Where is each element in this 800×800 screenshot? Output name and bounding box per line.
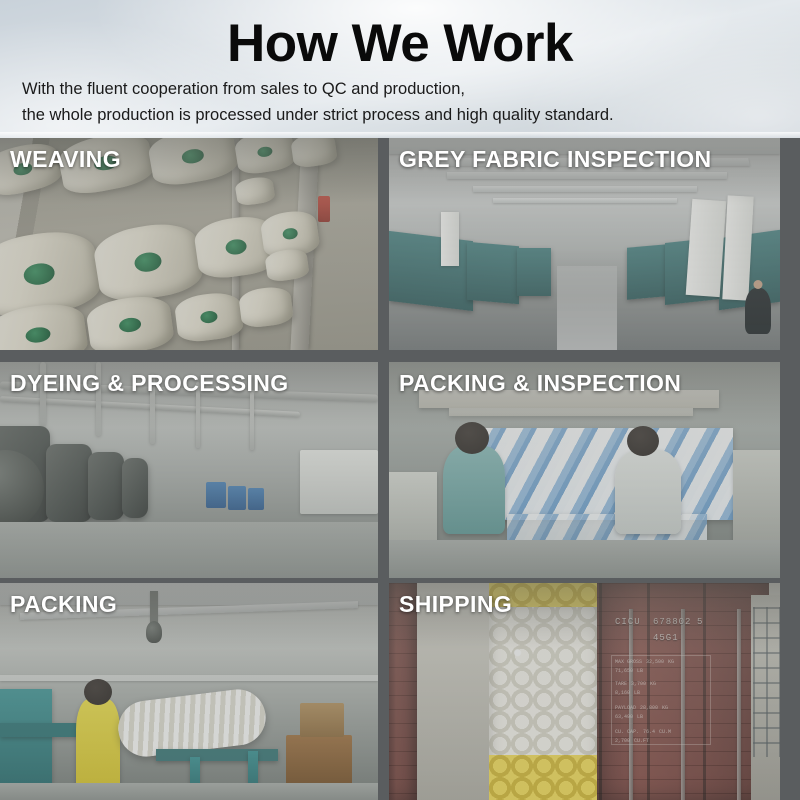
spec-v1-1: 3,700 — [631, 681, 646, 687]
spec-label-0: MAX GROSS — [615, 659, 642, 665]
spec-v2-1: 8,160 — [615, 690, 630, 696]
gallery-cell-weaving[interactable]: WEAVING — [0, 138, 378, 350]
container-type-code: 45G1 — [653, 633, 679, 643]
subtitle-line-1: With the fluent cooperation from sales t… — [22, 76, 782, 102]
spec-label-1: TARE — [615, 681, 627, 687]
spec-v2-0: 71,650 — [615, 668, 633, 674]
gallery-cell-packing[interactable]: PACKING — [0, 583, 378, 800]
spec-label-3: CU. CAP. — [615, 729, 639, 735]
gallery-cell-packing-inspection[interactable]: PACKING & INSPECTION — [389, 362, 780, 578]
gallery-cell-grey-fabric[interactable]: GREY FABRIC INSPECTION — [389, 138, 780, 350]
container-serial: 678802 — [653, 617, 691, 627]
cell-label-grey-fabric: GREY FABRIC INSPECTION — [399, 146, 712, 173]
container-owner-code: CICU — [615, 617, 641, 627]
spec-label-2: PAYLOAD — [615, 705, 636, 711]
spec-u1-2: KG — [662, 705, 668, 711]
spec-u1-3: CU.M — [659, 729, 671, 735]
gallery-cell-shipping[interactable]: CICU 678802 5 45G1 MAX GROSS 32,500 KG 7… — [389, 583, 780, 800]
spec-u2-3: CU.FT — [634, 738, 649, 744]
spec-v1-2: 28,800 — [640, 705, 658, 711]
container-check-digit: 5 — [697, 617, 703, 627]
spec-v2-2: 63,490 — [615, 714, 633, 720]
spec-v1-3: 76.4 — [643, 729, 655, 735]
spec-u2-2: LB — [637, 714, 643, 720]
page-subtitle: With the fluent cooperation from sales t… — [22, 76, 782, 128]
cell-label-shipping: SHIPPING — [399, 591, 512, 618]
cell-label-packing: PACKING — [10, 591, 117, 618]
how-we-work-page: How We Work With the fluent cooperation … — [0, 0, 800, 800]
spec-u1-1: KG — [650, 681, 656, 687]
cell-label-dyeing: DYEING & PROCESSING — [10, 370, 289, 397]
spec-v2-3: 2,700 — [615, 738, 630, 744]
process-gallery-grid: WEAVING — [0, 138, 800, 800]
subtitle-line-2: the whole production is processed under … — [22, 102, 782, 128]
page-header: How We Work With the fluent cooperation … — [0, 0, 800, 138]
cell-label-packing-inspection: PACKING & INSPECTION — [399, 370, 681, 397]
spec-u2-0: LB — [637, 668, 643, 674]
spec-u2-1: LB — [634, 690, 640, 696]
spec-u1-0: KG — [668, 659, 674, 665]
page-title: How We Work — [0, 16, 800, 72]
spec-v1-0: 32,500 — [646, 659, 664, 665]
right-margin-strip — [780, 138, 800, 800]
gallery-cell-dyeing[interactable]: DYEING & PROCESSING — [0, 362, 378, 578]
cell-label-weaving: WEAVING — [10, 146, 121, 173]
